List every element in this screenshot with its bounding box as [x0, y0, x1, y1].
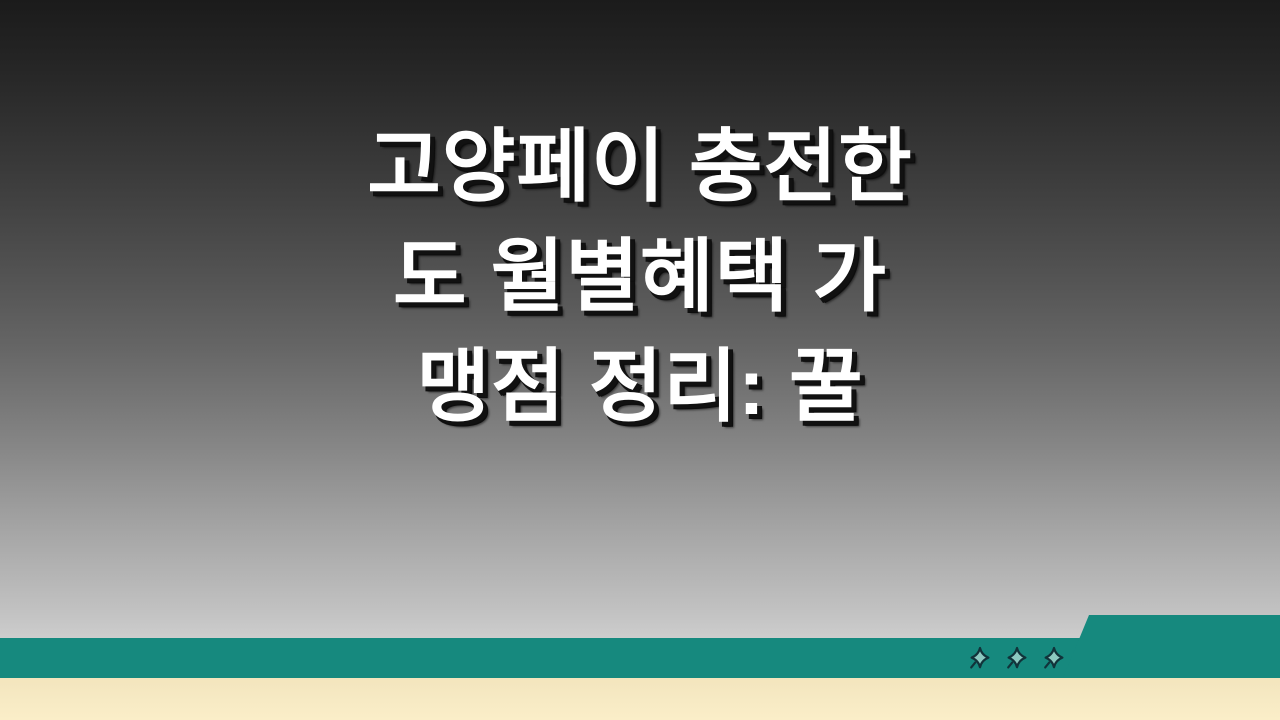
sparkle-icon — [1042, 644, 1066, 672]
title-slide: 고양페이 충전한 도 월별혜택 가 맹점 정리: 꿀 — [0, 0, 1280, 720]
title-line-2: 도 월별혜택 가 — [0, 222, 1280, 332]
sparkle-group — [968, 640, 1078, 676]
sparkle-icon — [1005, 644, 1029, 672]
slide-title: 고양페이 충전한 도 월별혜택 가 맹점 정리: 꿀 — [0, 112, 1280, 442]
title-line-1: 고양페이 충전한 — [0, 112, 1280, 222]
sparkle-icon — [968, 644, 992, 672]
footer-cream-band — [0, 678, 1280, 720]
footer-accent-raised-block — [1063, 615, 1280, 678]
title-line-3: 맹점 정리: 꿀 — [0, 332, 1280, 442]
